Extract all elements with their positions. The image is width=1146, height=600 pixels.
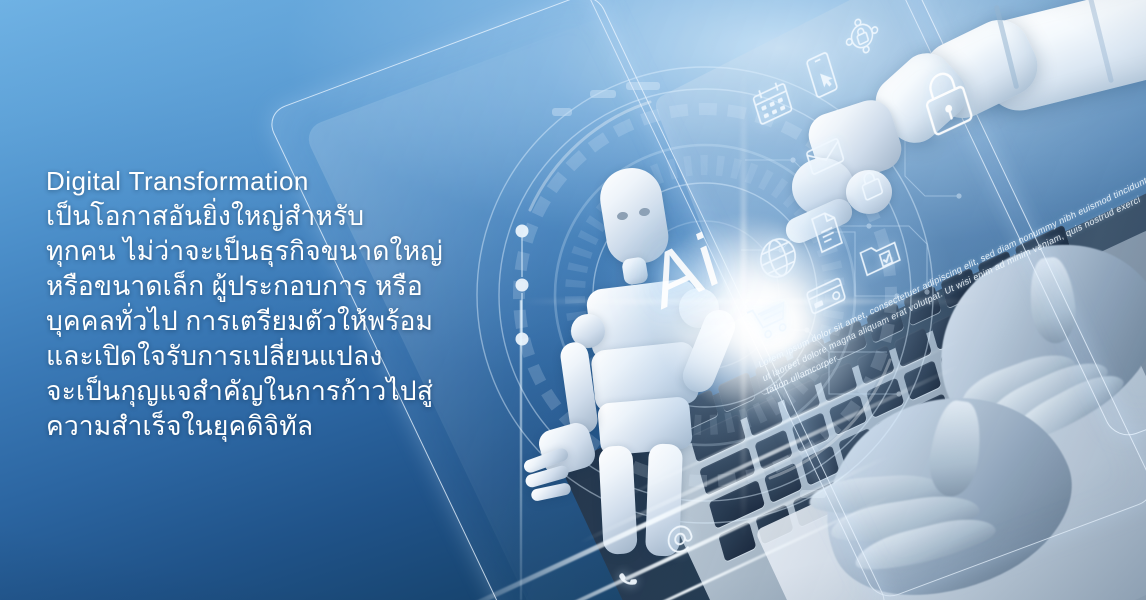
body-line-5: บุคคลทั่วไป การเตรียมตัวให้พร้อม bbox=[46, 304, 476, 339]
body-line-6: และเปิดใจรับการเปลี่ยนแปลง bbox=[46, 339, 476, 374]
page-title: Digital Transformation bbox=[46, 164, 476, 199]
panel-node-dots bbox=[505, 215, 545, 365]
body-line-8: ความสำเร็จในยุคดิจิทัล bbox=[46, 409, 476, 444]
body-line-3: ทุกคน ไม่ว่าจะเป็นธุรกิจขนาดใหญ่ bbox=[46, 234, 476, 269]
panel-frame-glow bbox=[520, 300, 522, 600]
body-line-7: จะเป็นกุญแจสำคัญในการก้าวไปสู่ bbox=[46, 374, 476, 409]
body-line-4: หรือขนาดเล็ก ผู้ประกอบการ หรือ bbox=[46, 269, 476, 304]
banner-canvas: Ai bbox=[0, 0, 1146, 600]
body-line-2: เป็นโอกาสอันยิ่งใหญ่สำหรับ bbox=[46, 199, 476, 234]
headline-copy-block: Digital Transformation เป็นโอกาสอันยิ่งใ… bbox=[46, 164, 476, 444]
